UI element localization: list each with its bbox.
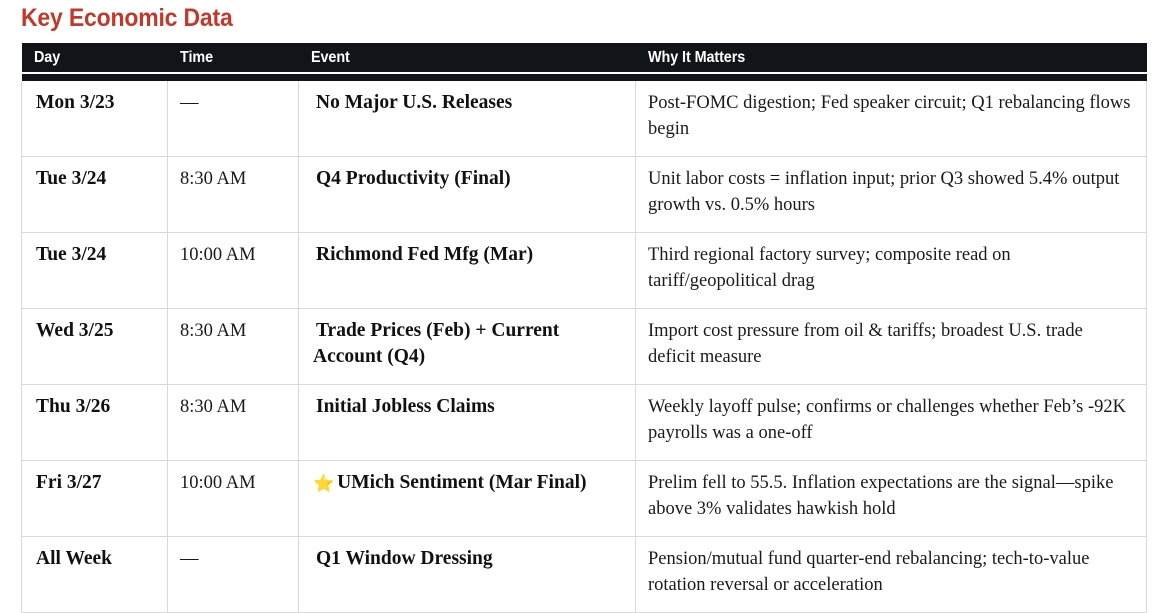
page-title: Key Economic Data (21, 3, 233, 33)
cell-time: — (168, 81, 299, 157)
column-header-why: Why It Matters (636, 43, 1147, 73)
cell-event-label: Q4 Productivity (Final) (316, 168, 511, 189)
cell-event-label: Trade Prices (Feb) + Current Account (Q4… (313, 320, 559, 367)
cell-day: Fri 3/27 (22, 461, 168, 537)
table-row: All Week — Q1 Window Dressing Pension/mu… (22, 537, 1147, 613)
cell-event: No Major U.S. Releases (299, 81, 636, 157)
cell-event-label: Q1 Window Dressing (316, 548, 493, 569)
cell-why: Third regional factory survey; composite… (636, 233, 1147, 309)
cell-event: Trade Prices (Feb) + Current Account (Q4… (299, 309, 636, 385)
cell-time: 10:00 AM (168, 233, 299, 309)
cell-event: Richmond Fed Mfg (Mar) (299, 233, 636, 309)
table-row: Wed 3/25 8:30 AM Trade Prices (Feb) + Cu… (22, 309, 1147, 385)
table-header-underbar (22, 73, 1147, 81)
cell-time: — (168, 537, 299, 613)
column-header-why-label: Why It Matters (648, 49, 745, 67)
cell-time: 8:30 AM (168, 385, 299, 461)
table-header-row: Day Time Event Why It Matters (22, 43, 1147, 73)
cell-day: Tue 3/24 (22, 157, 168, 233)
column-header-day: Day (22, 43, 168, 73)
cell-event: Q1 Window Dressing (299, 537, 636, 613)
cell-why: Weekly layoff pulse; confirms or challen… (636, 385, 1147, 461)
cell-event: Initial Jobless Claims (299, 385, 636, 461)
cell-event-label: Initial Jobless Claims (316, 396, 495, 417)
cell-event-label: UMich Sentiment (Mar Final) (337, 472, 586, 493)
table-body: Mon 3/23 — No Major U.S. Releases Post-F… (22, 81, 1147, 613)
table-row: Mon 3/23 — No Major U.S. Releases Post-F… (22, 81, 1147, 157)
column-header-time-label: Time (180, 49, 213, 67)
table-row: Thu 3/26 8:30 AM Initial Jobless Claims … (22, 385, 1147, 461)
column-header-time: Time (168, 43, 299, 73)
cell-event-label: Richmond Fed Mfg (Mar) (316, 244, 533, 265)
column-header-day-label: Day (34, 49, 60, 67)
cell-event-label: No Major U.S. Releases (316, 92, 512, 113)
economic-calendar-table-wrapper: Day Time Event Why It Matters Mon 3/23 —… (21, 43, 1146, 613)
cell-event: ⭐UMich Sentiment (Mar Final) (299, 461, 636, 537)
cell-why: Unit labor costs = inflation input; prio… (636, 157, 1147, 233)
cell-why: Pension/mutual fund quarter-end rebalanc… (636, 537, 1147, 613)
cell-day: Thu 3/26 (22, 385, 168, 461)
cell-why: Prelim fell to 55.5. Inflation expectati… (636, 461, 1147, 537)
cell-day: Tue 3/24 (22, 233, 168, 309)
cell-time: 8:30 AM (168, 157, 299, 233)
table-header-underbar-fill (22, 73, 1147, 81)
cell-day: Wed 3/25 (22, 309, 168, 385)
cell-time: 8:30 AM (168, 309, 299, 385)
economic-calendar-table: Day Time Event Why It Matters Mon 3/23 —… (21, 43, 1147, 613)
star-icon: ⭐ (313, 474, 334, 493)
cell-why: Post-FOMC digestion; Fed speaker circuit… (636, 81, 1147, 157)
table-header: Day Time Event Why It Matters (22, 43, 1147, 81)
table-row: Tue 3/24 8:30 AM Q4 Productivity (Final)… (22, 157, 1147, 233)
table-row: Fri 3/27 10:00 AM ⭐UMich Sentiment (Mar … (22, 461, 1147, 537)
column-header-event-label: Event (311, 49, 350, 67)
table-row: Tue 3/24 10:00 AM Richmond Fed Mfg (Mar)… (22, 233, 1147, 309)
cell-event: Q4 Productivity (Final) (299, 157, 636, 233)
column-header-event: Event (299, 43, 636, 73)
cell-day: All Week (22, 537, 168, 613)
cell-why: Import cost pressure from oil & tariffs;… (636, 309, 1147, 385)
page-root: Key Economic Data Day Time Event Why It … (0, 0, 1158, 577)
cell-day: Mon 3/23 (22, 81, 168, 157)
cell-time: 10:00 AM (168, 461, 299, 537)
